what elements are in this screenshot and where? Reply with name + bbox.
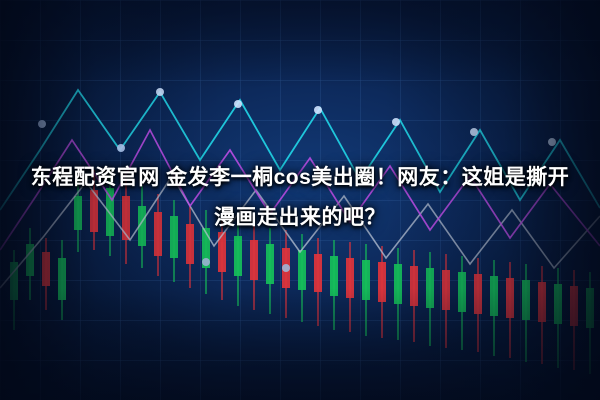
headline-text: 东程配资官网 金发李一桐cos美出圈！网友：这姐是撕开漫画走出来的吧？ bbox=[0, 158, 600, 238]
image-canvas: 东程配资官网 金发李一桐cos美出圈！网友：这姐是撕开漫画走出来的吧？ bbox=[0, 0, 600, 400]
